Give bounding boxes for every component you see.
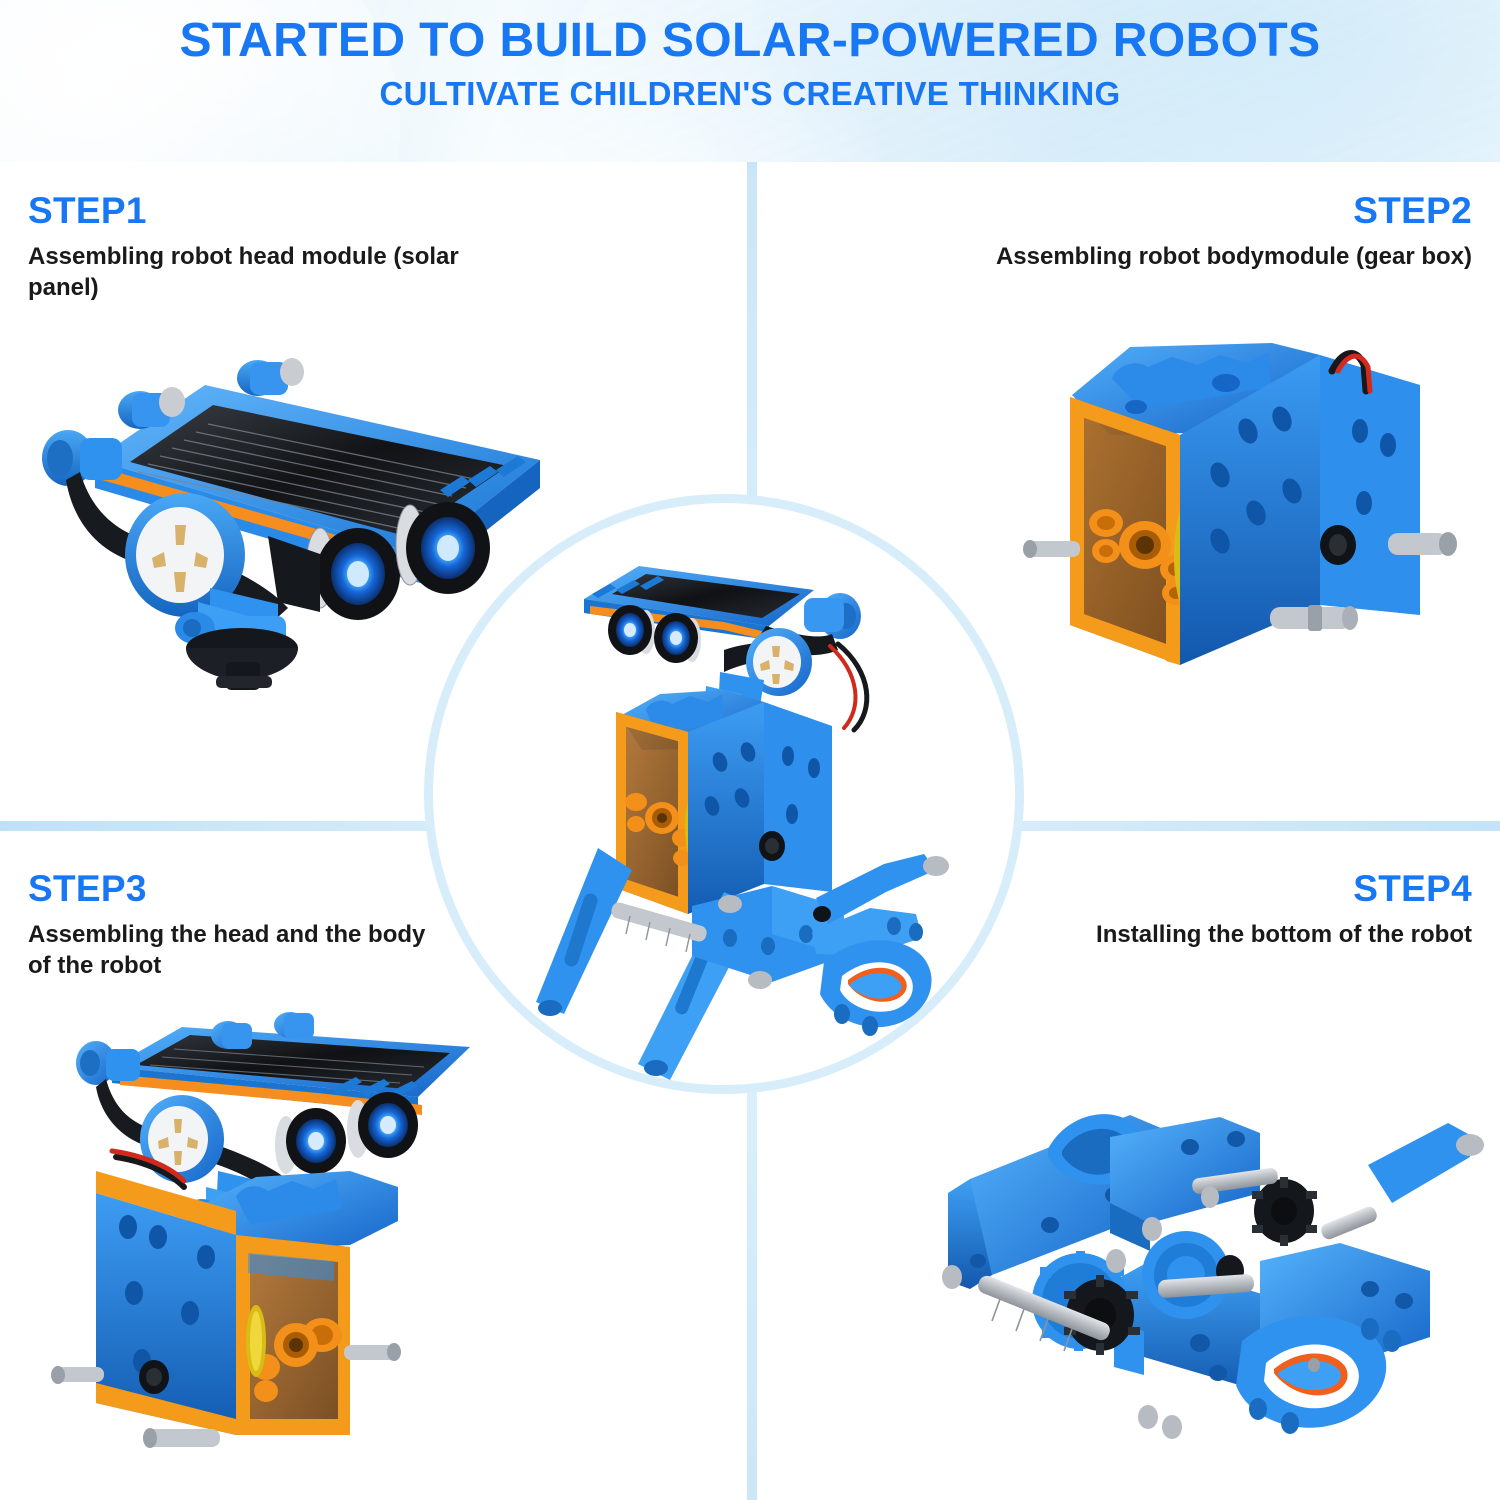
step3-body-module — [96, 1171, 398, 1435]
robot-wires — [830, 644, 867, 730]
right-axle-pin — [1388, 532, 1457, 556]
robot-head-and-body-image — [50, 1005, 530, 1455]
bottom-axle-pin — [1270, 605, 1358, 631]
page-subtitle: CULTIVATE CHILDREN'S CREATIVE THINKING — [0, 75, 1500, 113]
step2-label: STEP2 — [930, 192, 1472, 229]
robot-bottom-chassis-image — [900, 1075, 1490, 1465]
step2-description: Assembling robot bodymodule (gear box) — [930, 242, 1472, 273]
step1-description: Assembling robot head module (solar pane… — [28, 242, 468, 303]
robot-foot — [820, 940, 932, 1036]
header-title-group: STARTED TO BUILD SOLAR-POWERED ROBOTS CU… — [0, 0, 1500, 113]
step3-label: STEP3 — [28, 870, 448, 907]
gearbox-amber-panel — [1070, 397, 1192, 665]
robot-body-gearbox-image — [1020, 335, 1480, 705]
page-title: STARTED TO BUILD SOLAR-POWERED ROBOTS — [0, 16, 1500, 66]
chassis-foot — [1236, 1316, 1401, 1434]
step1-label: STEP1 — [28, 192, 468, 229]
step1-text-block: STEP1 Assembling robot head module (sola… — [28, 192, 468, 303]
step4-label: STEP4 — [1030, 870, 1472, 907]
left-axle-pin — [1023, 540, 1080, 558]
robot-body-module — [616, 690, 832, 914]
step3-text-block: STEP3 Assembling the head and the body o… — [28, 870, 448, 981]
step3-description: Assembling the head and the body of the … — [28, 920, 448, 981]
header-banner: STARTED TO BUILD SOLAR-POWERED ROBOTS CU… — [0, 0, 1500, 162]
left-pivot-knob — [42, 430, 122, 486]
step4-text-block: STEP4 Installing the bottom of the robot — [1030, 870, 1472, 951]
assembled-solar-robot-image — [424, 494, 1024, 1094]
step4-description: Installing the bottom of the robot — [1030, 920, 1472, 951]
step2-text-block: STEP2 Assembling robot bodymodule (gear … — [930, 192, 1472, 273]
